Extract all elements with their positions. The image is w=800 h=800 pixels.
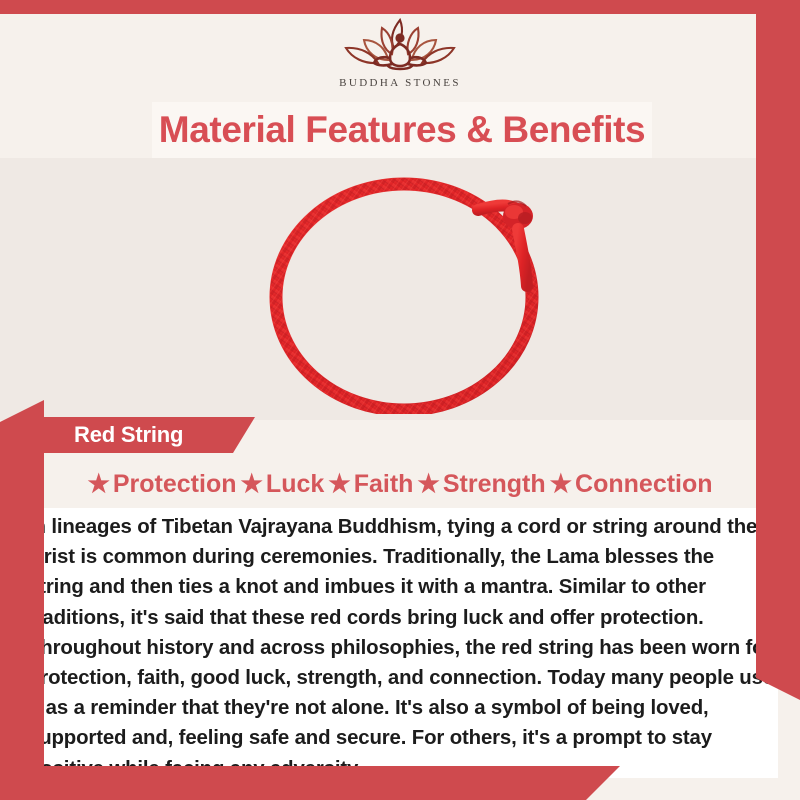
benefit-label: Faith [354,470,414,499]
benefit-item-connection: ★ Connection [550,470,713,499]
benefit-item-luck: ★ Luck [241,470,325,499]
brand-header: BUDDHA STONES [0,14,800,102]
lotus-meditation-icon [334,14,466,76]
benefit-label: Protection [113,470,237,499]
star-icon: ★ [417,472,439,497]
description-card: In lineages of Tibetan Vajrayana Buddhis… [22,508,778,778]
star-icon: ★ [87,472,109,497]
frame-left-bar [0,400,44,800]
benefit-label: Luck [266,470,324,499]
page-title-banner: Material Features & Benefits [152,102,652,158]
frame-top-bar [0,0,800,14]
benefit-label: Connection [575,470,713,499]
brand-wordmark: BUDDHA STONES [339,77,461,89]
infographic-page: BUDDHA STONES Material Features & Benefi… [0,0,800,800]
benefits-list: ★ Protection ★ Luck ★ Faith ★ Strength ★… [0,462,800,506]
star-icon: ★ [241,472,263,497]
benefit-item-protection: ★ Protection [87,470,236,499]
page-title: Material Features & Benefits [159,109,645,151]
benefit-item-strength: ★ Strength [417,470,545,499]
benefit-item-faith: ★ Faith [328,470,413,499]
frame-right-bar [756,0,800,700]
red-braided-cord-bracelet-image [246,174,576,414]
benefit-label: Strength [443,470,546,499]
frame-bottom-bar [0,766,620,800]
product-photo-panel [0,158,800,420]
material-label-text: Red String [18,422,183,448]
star-icon: ★ [550,472,572,497]
star-icon: ★ [328,472,350,497]
material-label-banner: Red String [18,417,255,453]
description-text: In lineages of Tibetan Vajrayana Buddhis… [28,512,774,784]
